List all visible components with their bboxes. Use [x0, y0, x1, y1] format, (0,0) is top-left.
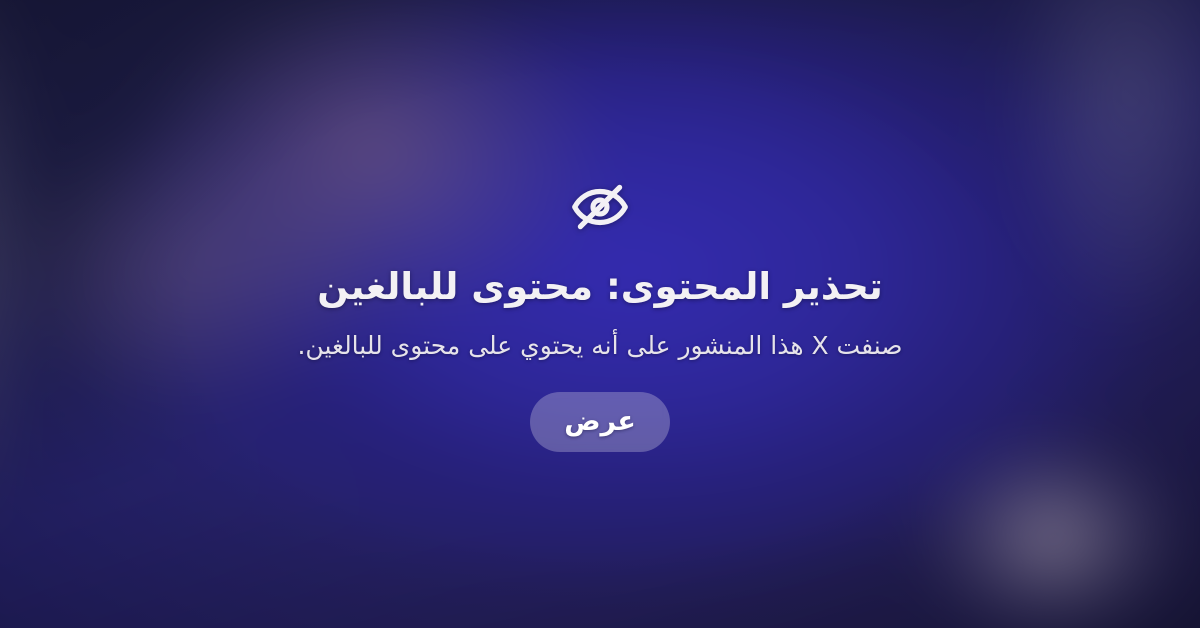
warning-description: صنفت X هذا المنشور على أنه يحتوي على محت… — [297, 329, 902, 364]
page-title: تحذير المحتوى: محتوى للبالغين — [317, 264, 883, 309]
content-warning-screen: تحذير المحتوى: محتوى للبالغين صنفت X هذا… — [0, 0, 1200, 628]
content-warning-overlay: تحذير المحتوى: محتوى للبالغين صنفت X هذا… — [0, 0, 1200, 628]
eye-off-icon — [569, 176, 631, 238]
view-button[interactable]: عرض — [530, 392, 670, 452]
